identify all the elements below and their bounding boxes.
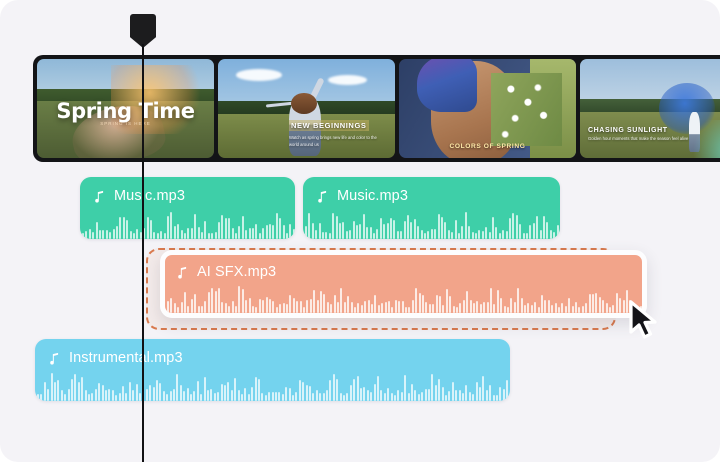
clip4-caption-sub: Golden hour moments that make the season… [588,136,720,142]
audio-clip-music-2[interactable]: Music.mp3 [303,177,560,239]
audio-clip-ai-sfx-label: AI SFX.mp3 [197,264,276,280]
audio-clip-instrumental[interactable]: Instrumental.mp3 [35,339,510,401]
clip3-hair [417,59,477,112]
clip1-subtitle-text: SPRING IS HERE [37,121,214,126]
mouse-cursor [627,300,661,340]
clip2-cloud-a [236,69,282,81]
audio-clip-instrumental-label-group: Instrumental.mp3 [48,350,183,366]
audio-clip-music-2-label: Music.mp3 [337,188,408,204]
video-clip-4[interactable]: CHASING SUNLIGHT Golden hour moments tha… [580,59,720,158]
audio-clip-music-1-label-group: Music.mp3 [93,188,185,204]
audio-clip-music-1[interactable]: Music.mp3 [80,177,295,239]
clip4-caption: CHASING SUNLIGHT Golden hour moments tha… [588,127,720,142]
video-track[interactable]: Spring Time SPRING IS HERE NEW BEGINNING… [33,55,720,162]
audio-clip-music-2-waveform [303,205,560,239]
clip1-title-text: Spring Time [37,99,214,123]
clip2-cloud-b [328,75,367,85]
audio-clip-instrumental-waveform [35,367,510,401]
playhead-handle[interactable] [130,14,156,48]
audio-clip-music-1-waveform [80,205,295,239]
clip2-caption: NEW BEGINNINGS Watch as spring brings ne… [289,115,385,148]
video-clip-2[interactable]: NEW BEGINNINGS Watch as spring brings ne… [218,59,395,158]
music-note-icon [316,189,330,204]
music-note-icon [93,189,107,204]
audio-clip-ai-sfx[interactable]: AI SFX.mp3 [160,250,647,318]
video-clip-3[interactable]: COLORS OF SPRING [399,59,576,158]
music-note-icon [176,265,190,280]
audio-clip-ai-sfx-label-group: AI SFX.mp3 [176,264,276,280]
audio-clip-instrumental-label: Instrumental.mp3 [69,350,183,366]
audio-clip-ai-sfx-waveform [165,279,642,313]
clip2-caption-sub: Watch as spring brings new life and colo… [289,135,385,148]
clip3-flowers [491,73,562,146]
clip3-caption-title: COLORS OF SPRING [407,143,568,150]
clip2-caption-title: NEW BEGINNINGS [289,120,369,131]
timeline-editor: Spring Time SPRING IS HERE NEW BEGINNING… [0,0,720,462]
clip4-caption-title: CHASING SUNLIGHT [588,127,720,134]
music-note-icon [48,351,62,366]
audio-clip-music-2-label-group: Music.mp3 [316,188,408,204]
audio-clip-music-1-label: Music.mp3 [114,188,185,204]
video-clip-1[interactable]: Spring Time SPRING IS HERE [37,59,214,158]
clip3-caption: COLORS OF SPRING [407,143,568,150]
